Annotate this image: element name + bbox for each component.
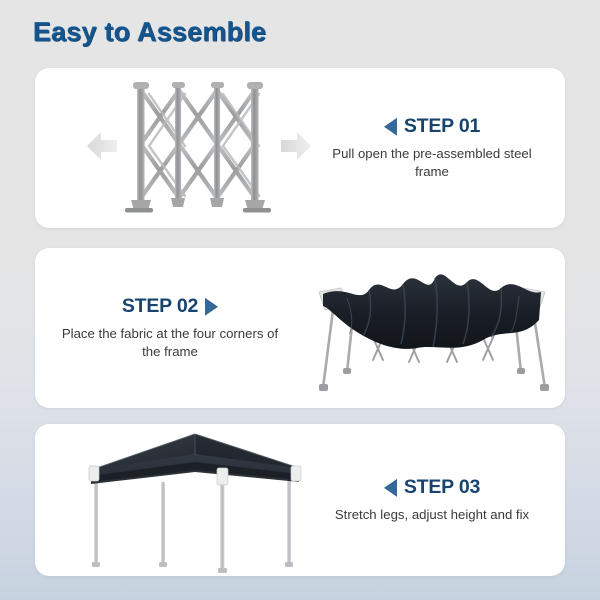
triangle-left-icon	[384, 478, 397, 496]
step-1-text-block: STEP 01 Pull open the pre-assembled stee…	[317, 115, 547, 181]
canopy-fabric	[323, 274, 541, 349]
step-2-label: STEP 02	[122, 295, 198, 318]
step-2-text-block: STEP 02 Place the fabric at the four cor…	[55, 295, 285, 361]
step-3-description: Stretch legs, adjust height and fix	[317, 506, 547, 524]
page-title: Easy to Assemble	[33, 17, 266, 48]
step-1-label: STEP 01	[404, 115, 480, 138]
folded-steel-frame-illustration	[79, 68, 319, 228]
step-1-heading: STEP 01	[317, 115, 547, 138]
arrow-right-icon	[281, 132, 311, 160]
step-card-1: STEP 01 Pull open the pre-assembled stee…	[35, 68, 565, 228]
step-1-description: Pull open the pre-assembled steel frame	[317, 145, 547, 181]
assembled-canopy-illustration	[73, 424, 323, 576]
step-card-3: STEP 03 Stretch legs, adjust height and …	[35, 424, 565, 576]
arrow-left-icon	[87, 132, 117, 160]
fabric-draped-frame-illustration	[307, 248, 557, 408]
step-3-label: STEP 03	[404, 476, 480, 499]
canopy-leg	[161, 482, 165, 566]
triangle-right-icon	[205, 297, 218, 315]
step-2-description: Place the fabric at the four corners of …	[55, 325, 285, 361]
step-card-2: STEP 02 Place the fabric at the four cor…	[35, 248, 565, 408]
triangle-left-icon	[384, 117, 397, 135]
step-3-heading: STEP 03	[317, 476, 547, 499]
canopy-leg	[94, 470, 98, 566]
canopy-leg	[220, 472, 224, 572]
canopy-leg	[287, 472, 291, 566]
step-3-text-block: STEP 03 Stretch legs, adjust height and …	[317, 476, 547, 524]
step-2-heading: STEP 02	[55, 295, 285, 318]
